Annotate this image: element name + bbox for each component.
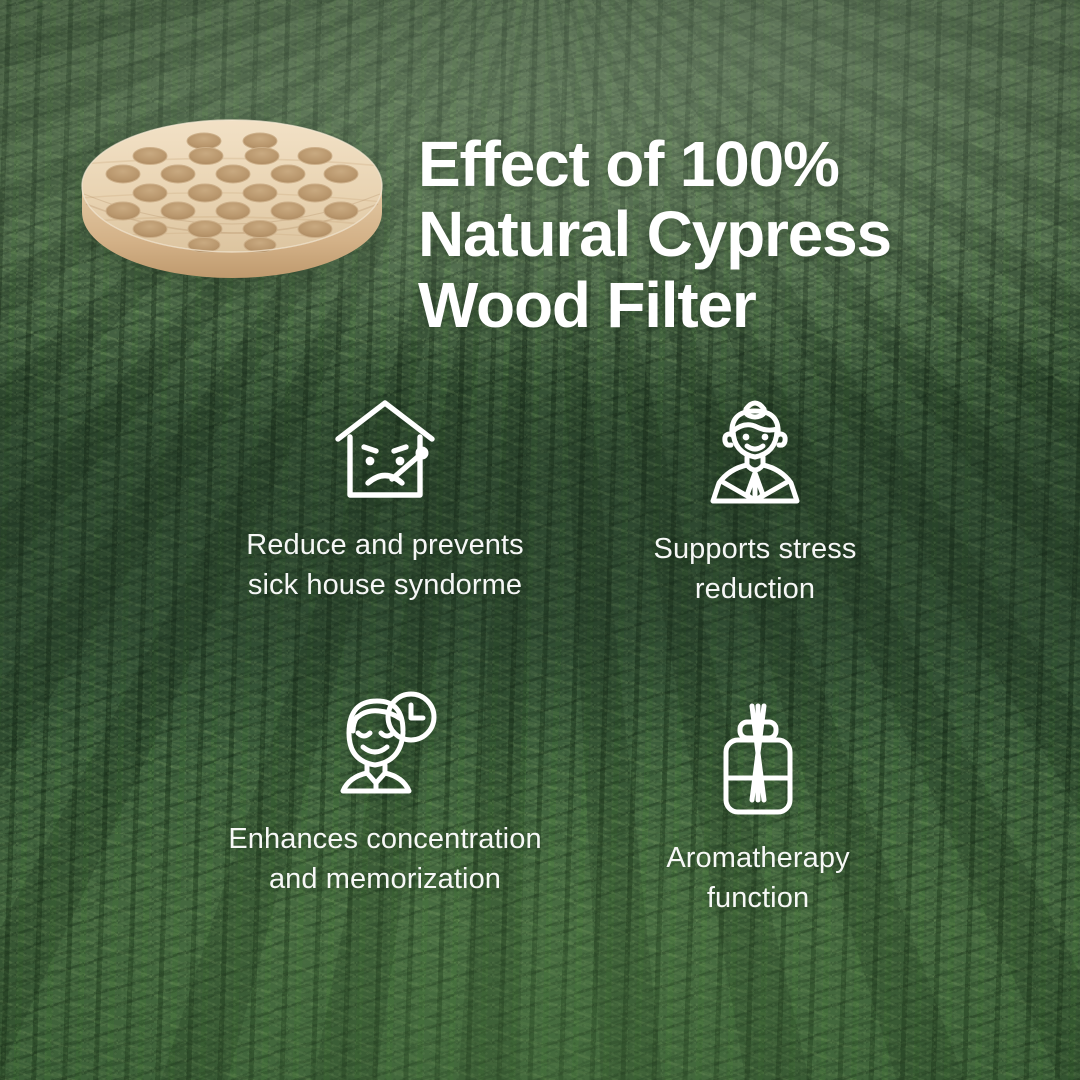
benefit-caption-line-1: Aromatherapy	[598, 838, 918, 878]
benefit-caption-line-1: Reduce and prevents	[205, 525, 565, 565]
reed-diffuser-icon	[708, 700, 808, 816]
benefit-caption-line-1: Supports stress	[595, 529, 915, 569]
product-image-cypress-disc	[76, 112, 388, 294]
meditating-person-icon	[699, 391, 811, 507]
benefit-item-sick-house: Reduce and prevents sick house syndorme	[205, 395, 565, 605]
benefit-caption: Aromatherapy function	[598, 838, 918, 918]
page-title: Effect of 100% Natural Cypress Wood Filt…	[418, 129, 1058, 340]
benefit-caption-line-2: sick house syndorme	[205, 565, 565, 605]
benefit-caption-line-2: function	[598, 878, 918, 918]
benefit-caption: Enhances concentration and memorization	[185, 819, 585, 899]
benefit-item-aromatherapy: Aromatherapy function	[598, 700, 918, 918]
benefit-caption: Reduce and prevents sick house syndorme	[205, 525, 565, 605]
benefit-item-concentration: Enhances concentration and memorization	[185, 685, 585, 899]
focused-person-clock-icon	[329, 685, 441, 797]
sick-house-icon	[330, 395, 440, 503]
benefit-caption-line-2: and memorization	[185, 859, 585, 899]
benefit-item-stress-reduction: Supports stress reduction	[595, 391, 915, 609]
benefit-caption-line-1: Enhances concentration	[185, 819, 585, 859]
title-line-1: Effect of 100%	[418, 129, 1058, 199]
title-line-3: Wood Filter	[418, 270, 1058, 340]
wooden-disc-illustration	[76, 112, 388, 294]
benefit-caption: Supports stress reduction	[595, 529, 915, 609]
promo-graphic: Effect of 100% Natural Cypress Wood Filt…	[0, 0, 1080, 1080]
title-line-2: Natural Cypress	[418, 199, 1058, 269]
benefit-caption-line-2: reduction	[595, 569, 915, 609]
